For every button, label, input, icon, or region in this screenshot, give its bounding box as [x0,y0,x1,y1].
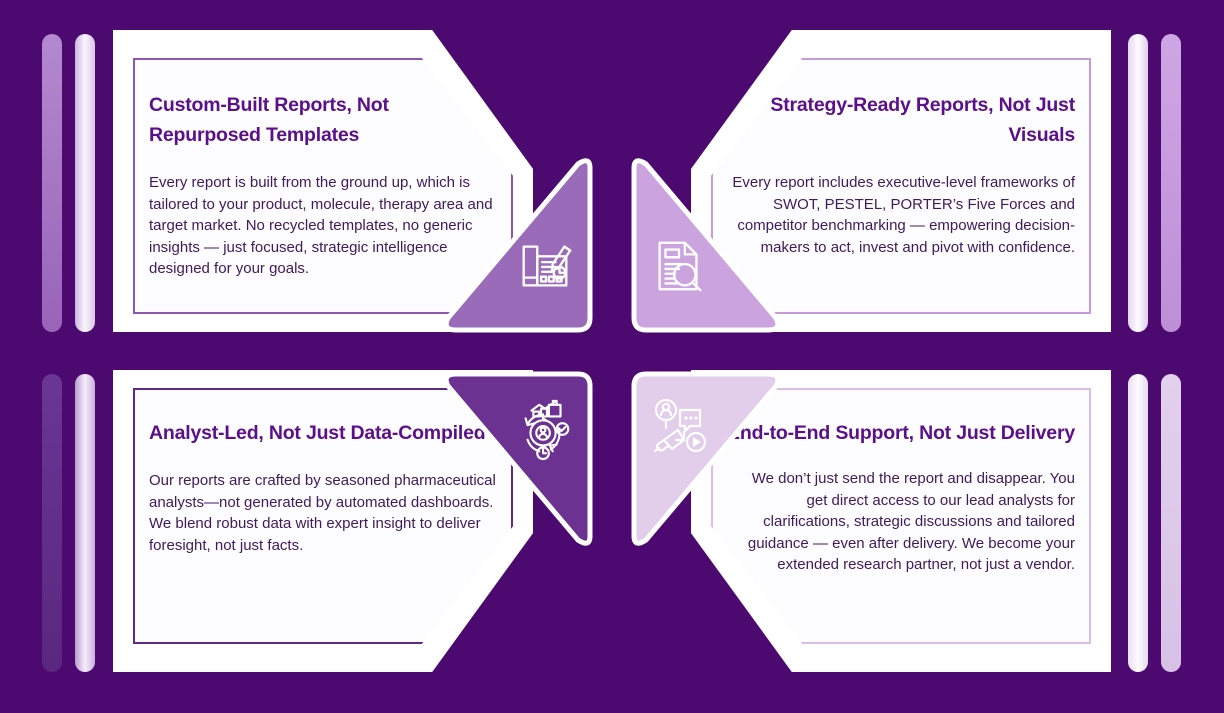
bar-right-outer-bottom [1161,374,1181,672]
bar-left-outer-top [42,34,62,332]
wedge-analyst-led [438,366,598,544]
bar-right-outer-top [1161,34,1181,332]
wedge-custom-built-reports [438,160,598,338]
document-search-icon [648,235,710,297]
bar-left-inner-bottom [75,374,95,672]
bar-right-inner-top [1128,34,1148,332]
blueprint-pencil-icon [514,235,576,297]
wedge-end-to-end-support [626,366,786,544]
bar-left-inner-top [75,34,95,332]
bar-right-inner-bottom [1128,374,1148,672]
card-title: Custom-Built Reports, Not Repurposed Tem… [149,90,497,150]
support-megaphone-icon [648,396,712,460]
infographic-canvas: Custom-Built Reports, Not Repurposed Tem… [0,0,1224,713]
analytics-gear-icon [514,399,576,461]
bar-left-outer-bottom [42,374,62,672]
card-title: Strategy-Ready Reports, Not Just Visuals [727,90,1075,150]
wedge-strategy-ready-reports [626,160,786,338]
